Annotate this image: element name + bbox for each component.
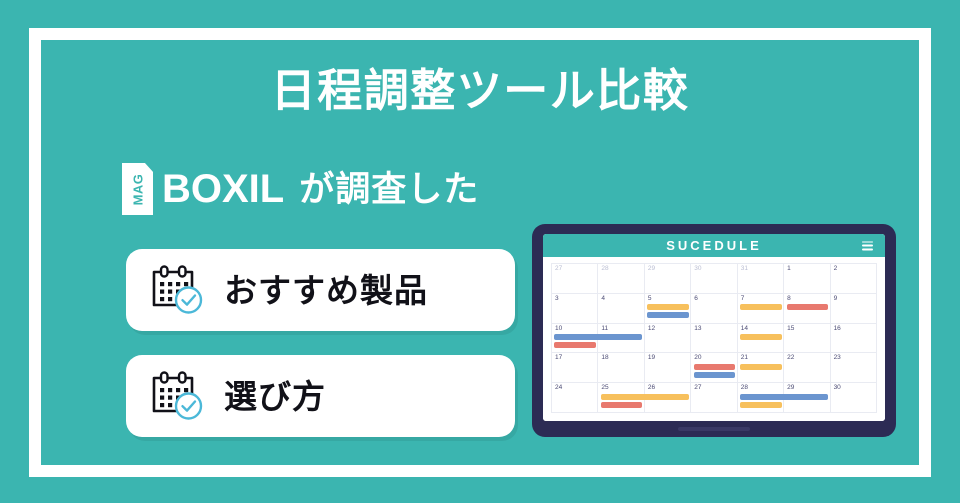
calendar-day-number: 7	[741, 296, 783, 303]
calendar-app-header: SUCEDULE	[543, 234, 885, 257]
calendar-app-title: SUCEDULE	[666, 239, 762, 252]
calendar-day-cell[interactable]: 29	[645, 264, 691, 294]
calendar-body: 2728293031123456789101112131415161718192…	[543, 257, 885, 421]
calendar-day-number: 14	[741, 326, 783, 333]
calendar-day-number: 27	[555, 266, 597, 273]
calendar-event-bar[interactable]	[694, 364, 736, 370]
calendar-day-number: 21	[741, 355, 783, 362]
calendar-day-cell[interactable]: 1	[784, 264, 830, 294]
calendar-day-cell[interactable]: 6	[691, 294, 737, 324]
calendar-event-bar[interactable]	[647, 304, 689, 310]
calendar-day-number: 23	[834, 355, 876, 362]
calendar-day-number: 10	[555, 326, 597, 333]
calendar-day-number: 29	[787, 385, 829, 392]
calendar-day-number: 11	[601, 326, 643, 333]
calendar-event-bar[interactable]	[554, 342, 596, 348]
calendar-day-cell[interactable]: 9	[831, 294, 877, 324]
calendar-day-number: 30	[694, 266, 736, 273]
calendar-day-number: 25	[601, 385, 643, 392]
calendar-event-bar[interactable]	[740, 304, 782, 310]
calendar-day-number: 27	[694, 385, 736, 392]
calendar-day-cell[interactable]: 18	[598, 353, 644, 383]
brand-subtitle: MAG BOXIL が調査した	[122, 163, 479, 215]
poster-canvas: 日程調整ツール比較 MAG BOXIL が調査した	[0, 0, 960, 503]
calendar-event-bar[interactable]	[787, 304, 829, 310]
feature-card-how-to-choose[interactable]: 選び方	[126, 355, 515, 437]
calendar-day-number: 31	[741, 266, 783, 273]
calendar-day-cell[interactable]: 2	[831, 264, 877, 294]
calendar-event-bar[interactable]	[694, 372, 736, 378]
calendar-event-bar[interactable]	[647, 312, 689, 318]
calendar-day-cell[interactable]: 15	[784, 324, 830, 354]
calendar-day-cell[interactable]: 30	[691, 264, 737, 294]
calendar-day-number: 15	[787, 326, 829, 333]
calendar-day-cell[interactable]: 19	[645, 353, 691, 383]
calendar-day-number: 28	[741, 385, 783, 392]
calendar-day-cell[interactable]: 24	[552, 383, 598, 413]
calendar-day-number: 24	[555, 385, 597, 392]
calendar-day-number: 30	[834, 385, 876, 392]
calendar-day-number: 9	[834, 296, 876, 303]
tablet-screen: SUCEDULE 2728293031123456789101112131415…	[543, 234, 885, 421]
calendar-event-bar[interactable]	[601, 402, 643, 408]
calendar-day-number: 22	[787, 355, 829, 362]
calendar-day-cell[interactable]: 3	[552, 294, 598, 324]
mag-logo-label: MAG	[131, 173, 144, 205]
card-label: 選び方	[224, 380, 326, 413]
calendar-event-bar[interactable]	[554, 334, 642, 340]
calendar-event-bar[interactable]	[740, 394, 828, 400]
calendar-day-number: 19	[648, 355, 690, 362]
boxil-mag-logo-icon: MAG	[122, 163, 153, 215]
calendar-day-cell[interactable]: 12	[645, 324, 691, 354]
calendar-event-bar[interactable]	[740, 364, 782, 370]
brand-name: BOXIL	[162, 169, 284, 209]
calendar-day-cell[interactable]: 17	[552, 353, 598, 383]
calendar-day-number: 29	[648, 266, 690, 273]
calendar-event-bar[interactable]	[740, 334, 782, 340]
calendar-event-bar[interactable]	[740, 402, 782, 408]
calendar-day-cell[interactable]: 27	[552, 264, 598, 294]
calendar-month-grid[interactable]: 2728293031123456789101112131415161718192…	[551, 263, 877, 413]
calendar-day-number: 28	[601, 266, 643, 273]
calendar-day-cell[interactable]: 16	[831, 324, 877, 354]
calendar-day-cell[interactable]: 13	[691, 324, 737, 354]
calendar-day-cell[interactable]: 31	[738, 264, 784, 294]
calendar-day-number: 18	[601, 355, 643, 362]
calendar-check-icon	[148, 263, 206, 318]
calendar-day-cell[interactable]: 28	[598, 264, 644, 294]
calendar-day-number: 4	[601, 296, 643, 303]
calendar-day-number: 16	[834, 326, 876, 333]
calendar-day-number: 26	[648, 385, 690, 392]
subtitle-tail-text: が調査した	[293, 172, 479, 207]
feature-card-recommended-products[interactable]: おすすめ製品	[126, 249, 515, 331]
calendar-day-number: 1	[787, 266, 829, 273]
calendar-day-cell[interactable]: 23	[831, 353, 877, 383]
page-title: 日程調整ツール比較	[0, 66, 960, 116]
calendar-day-number: 8	[787, 296, 829, 303]
home-indicator	[678, 427, 750, 431]
calendar-day-number: 2	[834, 266, 876, 273]
calendar-day-number: 17	[555, 355, 597, 362]
calendar-day-number: 5	[648, 296, 690, 303]
hamburger-menu-icon[interactable]	[862, 241, 873, 250]
calendar-day-cell[interactable]: 22	[784, 353, 830, 383]
calendar-day-cell[interactable]: 30	[831, 383, 877, 413]
calendar-check-icon	[148, 369, 206, 424]
calendar-day-number: 13	[694, 326, 736, 333]
calendar-event-bar[interactable]	[601, 394, 689, 400]
calendar-day-number: 20	[694, 355, 736, 362]
tablet-device-mockup: SUCEDULE 2728293031123456789101112131415…	[532, 224, 896, 437]
calendar-day-cell[interactable]: 27	[691, 383, 737, 413]
calendar-day-number: 12	[648, 326, 690, 333]
calendar-day-number: 3	[555, 296, 597, 303]
calendar-day-number: 6	[694, 296, 736, 303]
calendar-day-cell[interactable]: 4	[598, 294, 644, 324]
card-label: おすすめ製品	[224, 274, 428, 307]
